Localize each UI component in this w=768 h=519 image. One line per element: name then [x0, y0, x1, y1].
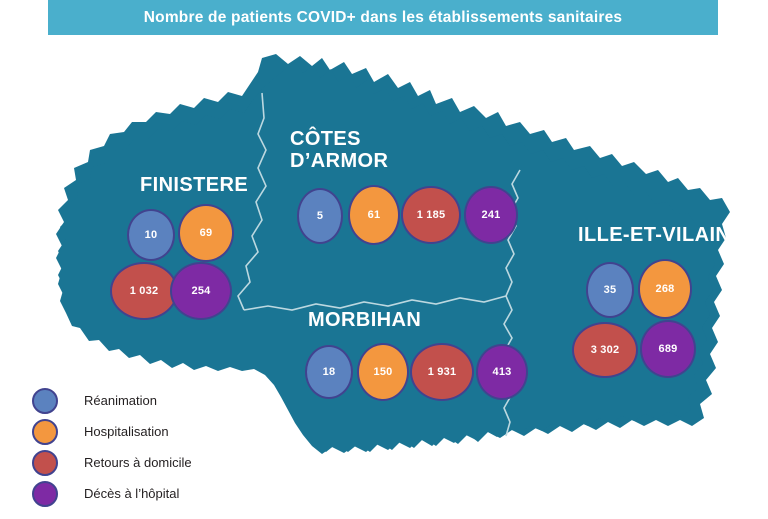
region-label-ille-et-vilaine: ILLE-ET-VILAINE — [578, 224, 744, 246]
bubble-finistere-hospitalisation[interactable]: 69 — [178, 204, 234, 262]
legend-item-reanimation[interactable]: Réanimation — [32, 385, 292, 416]
legend-swatch-reanimation-icon — [32, 388, 58, 414]
legend-item-deces-a-lhopital[interactable]: Décès à l’hôpital — [32, 478, 292, 509]
bubble-finistere-reanimation[interactable]: 10 — [127, 209, 175, 261]
bubble-cotes-darmor-reanimation[interactable]: 5 — [297, 188, 343, 244]
bubble-ille-et-vilaine-reanimation[interactable]: 35 — [586, 262, 634, 318]
legend: Réanimation Hospitalisation Retours à do… — [32, 385, 292, 509]
legend-swatch-hospitalisation-icon — [32, 419, 58, 445]
bubble-finistere-retours[interactable]: 1 032 — [110, 262, 178, 320]
legend-label-reanimation: Réanimation — [84, 393, 157, 408]
bubble-finistere-deces[interactable]: 254 — [170, 262, 232, 320]
legend-item-hospitalisation[interactable]: Hospitalisation — [32, 416, 292, 447]
bubble-cotes-darmor-retours[interactable]: 1 185 — [401, 186, 461, 244]
region-label-cotes-darmor: CÔTES D’ARMOR — [290, 128, 388, 173]
legend-swatch-retours-icon — [32, 450, 58, 476]
region-label-finistere: FINISTERE — [140, 174, 248, 196]
bubble-morbihan-retours[interactable]: 1 931 — [410, 343, 474, 401]
legend-item-retours-a-domicile[interactable]: Retours à domicile — [32, 447, 292, 478]
bubble-morbihan-reanimation[interactable]: 18 — [305, 345, 353, 399]
page-title: Nombre de patients COVID+ dans les établ… — [144, 9, 622, 27]
title-banner: Nombre de patients COVID+ dans les établ… — [48, 0, 718, 35]
region-label-cotes-darmor-line2: D’ARMOR — [290, 150, 388, 172]
bubble-morbihan-deces[interactable]: 413 — [476, 344, 528, 400]
bubble-ille-et-vilaine-retours[interactable]: 3 302 — [572, 322, 638, 378]
region-label-morbihan: MORBIHAN — [308, 309, 421, 331]
legend-swatch-deces-icon — [32, 481, 58, 507]
infographic-root: Nombre de patients COVID+ dans les établ… — [0, 0, 768, 519]
bubble-ille-et-vilaine-hospitalisation[interactable]: 268 — [638, 259, 692, 319]
bubble-ille-et-vilaine-deces[interactable]: 689 — [640, 320, 696, 378]
bubble-cotes-darmor-deces[interactable]: 241 — [464, 186, 518, 244]
legend-label-deces-a-lhopital: Décès à l’hôpital — [84, 486, 179, 501]
bubble-morbihan-hospitalisation[interactable]: 150 — [357, 343, 409, 401]
bubble-cotes-darmor-hospitalisation[interactable]: 61 — [348, 185, 400, 245]
region-label-cotes-darmor-line1: CÔTES — [290, 128, 388, 150]
legend-label-retours-a-domicile: Retours à domicile — [84, 455, 192, 470]
legend-label-hospitalisation: Hospitalisation — [84, 424, 169, 439]
